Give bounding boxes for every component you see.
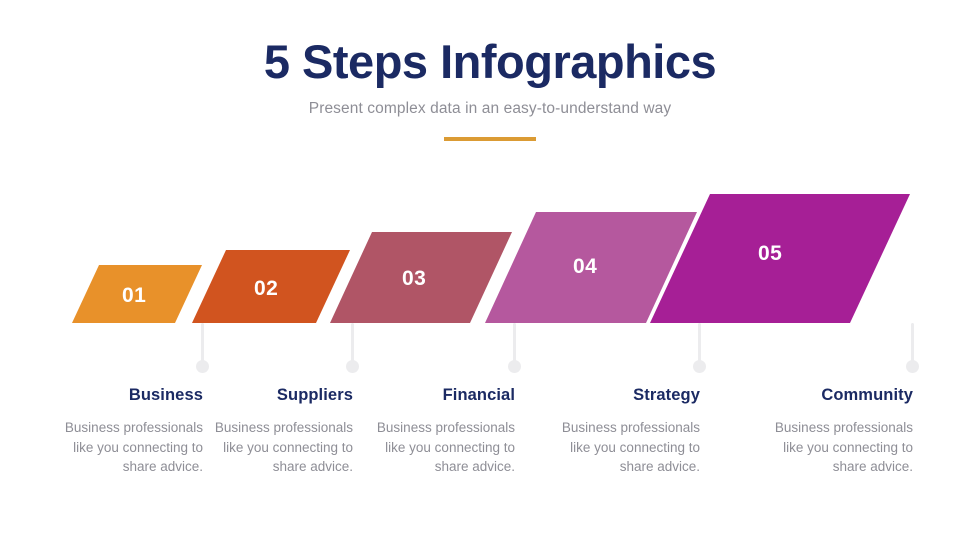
caption-5: Community Business professionals like yo… xyxy=(756,386,913,477)
infographic-slide: 5 Steps Infographics Present complex dat… xyxy=(0,0,980,551)
caption-heading-4: Strategy xyxy=(543,386,700,405)
step-number-4: 04 xyxy=(573,255,597,279)
caption-heading-3: Financial xyxy=(358,386,515,405)
caption-heading-2: Suppliers xyxy=(196,386,353,405)
step-number-5: 05 xyxy=(758,242,782,266)
caption-body-3: Business professionals like you connecti… xyxy=(358,418,515,477)
caption-body-5: Business professionals like you connecti… xyxy=(756,418,913,477)
step-number-3: 03 xyxy=(402,267,426,291)
caption-body-2: Business professionals like you connecti… xyxy=(196,418,353,477)
connector-2 xyxy=(346,323,359,373)
connector-3 xyxy=(508,323,521,373)
step-number-1: 01 xyxy=(122,284,146,308)
step-item-2[interactable]: 02 xyxy=(192,250,350,323)
connector-dot-4 xyxy=(693,360,706,373)
connector-dot-2 xyxy=(346,360,359,373)
caption-heading-1: Business xyxy=(46,386,203,405)
connector-4 xyxy=(693,323,706,373)
caption-body-4: Business professionals like you connecti… xyxy=(543,418,700,477)
step-item-1[interactable]: 01 xyxy=(72,265,202,323)
steps-container: 01 02 03 xyxy=(0,0,980,551)
connector-1 xyxy=(196,323,209,373)
caption-body-1: Business professionals like you connecti… xyxy=(46,418,203,477)
caption-heading-5: Community xyxy=(756,386,913,405)
connector-dot-1 xyxy=(196,360,209,373)
connector-dot-3 xyxy=(508,360,521,373)
caption-4: Strategy Business professionals like you… xyxy=(543,386,700,477)
step-number-2: 02 xyxy=(254,277,278,301)
connector-5 xyxy=(906,323,919,373)
caption-2: Suppliers Business professionals like yo… xyxy=(196,386,353,477)
caption-3: Financial Business professionals like yo… xyxy=(358,386,515,477)
connector-dot-5 xyxy=(906,360,919,373)
caption-1: Business Business professionals like you… xyxy=(46,386,203,477)
step-item-5[interactable]: 05 xyxy=(650,194,910,323)
